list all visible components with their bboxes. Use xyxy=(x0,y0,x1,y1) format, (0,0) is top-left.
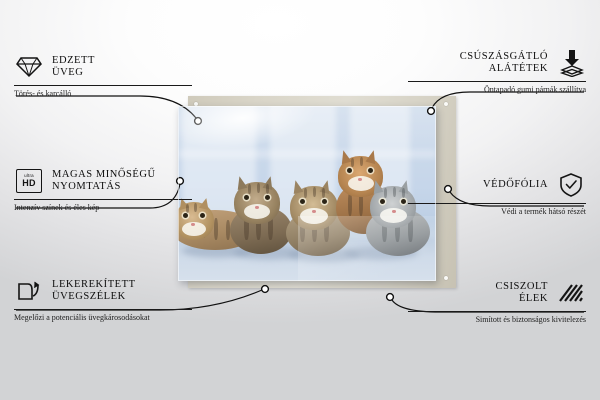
feature-title-line1: LEKEREKÍTETT xyxy=(52,279,136,290)
feature-title-line2: ÉLEK xyxy=(519,293,548,304)
feature-head: VÉDŐFÓLIA xyxy=(408,170,586,200)
feature-divider xyxy=(408,203,586,204)
ultra-hd-icon: ultra HD xyxy=(14,166,44,196)
shield-check-icon xyxy=(556,170,586,200)
feature-title: EDZETT ÜVEG xyxy=(52,55,95,80)
hatched-lines-icon xyxy=(556,278,586,308)
feature-subtitle: Megelőzi a potenciális üvegkárosodásokat xyxy=(14,313,192,323)
feature-head: EDZETT ÜVEG xyxy=(14,52,192,82)
feature-divider xyxy=(14,309,192,310)
diamond-icon xyxy=(14,52,44,82)
feature-head: ultra HD MAGAS MINŐSÉGŰ NYOMTATÁS xyxy=(14,166,192,196)
feature-title: CSISZOLT ÉLEK xyxy=(496,281,548,306)
feature-title: CSÚSZÁSGÁTLÓ ALÁTÉTEK xyxy=(460,51,548,76)
leader-dot-csiszolt xyxy=(387,294,394,301)
window-mullion xyxy=(178,150,436,158)
feature-title-line1: CSISZOLT xyxy=(496,281,548,292)
feature-subtitle: Simított és biztonságos kivitelezés xyxy=(408,315,586,325)
feature-head: CSISZOLT ÉLEK xyxy=(408,278,586,308)
feature-head: CSÚSZÁSGÁTLÓ ALÁTÉTEK xyxy=(408,48,586,78)
feature-title: VÉDŐFÓLIA xyxy=(483,179,548,192)
infographic-canvas: EDZETT ÜVEG Törés- és karcálló ultra HD … xyxy=(0,0,600,400)
feature-divider xyxy=(408,81,586,82)
feature-divider xyxy=(14,85,192,86)
feature-title: LEKEREKÍTETT ÜVEGSZÉLEK xyxy=(52,279,136,304)
feature-edzett-uveg: EDZETT ÜVEG Törés- és karcálló xyxy=(14,52,192,99)
feature-subtitle: Törés- és karcálló xyxy=(14,89,192,99)
feature-title-line1: CSÚSZÁSGÁTLÓ xyxy=(460,51,548,62)
feature-title-line2: ÜVEGSZÉLEK xyxy=(52,291,126,302)
printed-glass-front xyxy=(178,106,436,281)
feature-title-line1: EDZETT xyxy=(52,55,95,66)
feature-csuszasgatlo-alatetek: CSÚSZÁSGÁTLÓ ALÁTÉTEK Öntapadó gumi párn… xyxy=(408,48,586,95)
feature-subtitle: Öntapadó gumi párnák szállítva xyxy=(408,85,586,95)
kitten-photo xyxy=(178,106,436,281)
feature-subtitle: Védi a termék hátsó részét xyxy=(408,207,586,217)
feature-divider xyxy=(14,199,192,200)
feature-magas-minosegu-nyomtatas: ultra HD MAGAS MINŐSÉGŰ NYOMTATÁS Intenz… xyxy=(14,166,192,213)
feature-title-line2: NYOMTATÁS xyxy=(52,181,121,192)
ultra-hd-icon-main-text: HD xyxy=(22,179,35,188)
press-pads-icon xyxy=(556,48,586,78)
feature-head: LEKEREKÍTETT ÜVEGSZÉLEK xyxy=(14,276,192,306)
feature-title-line1: VÉDŐFÓLIA xyxy=(483,179,548,190)
feature-vedofolia: VÉDŐFÓLIA Védi a termék hátsó részét xyxy=(408,170,586,217)
feature-divider xyxy=(408,311,586,312)
feature-title-line1: MAGAS MINŐSÉGŰ xyxy=(52,169,156,180)
spacer-dot-top-right xyxy=(444,102,448,106)
feature-title-line2: ÜVEG xyxy=(52,67,83,78)
feature-lekerekitett-uvegszelek: LEKEREKÍTETT ÜVEGSZÉLEK Megelőzi a poten… xyxy=(14,276,192,323)
feature-subtitle: Intenzív színek és éles kép xyxy=(14,203,192,213)
feature-title-line2: ALÁTÉTEK xyxy=(489,63,548,74)
feature-csiszolt-elek: CSISZOLT ÉLEK Simított és biztonságos ki… xyxy=(408,278,586,325)
feature-title: MAGAS MINŐSÉGŰ NYOMTATÁS xyxy=(52,169,156,194)
leader-line-edzett-uveg xyxy=(16,96,196,118)
rounded-edge-icon xyxy=(14,276,44,306)
